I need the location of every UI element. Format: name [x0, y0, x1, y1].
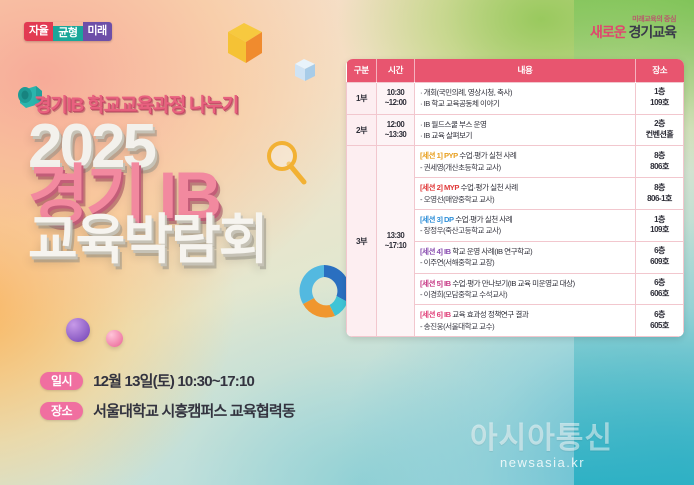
cell-content: [세션 5] IB 수업·평가 만나보기(IB 교육 미운영교 대상) - 이경… [415, 273, 636, 305]
session-tag: [세션 3] DP [420, 215, 454, 224]
schedule-table: 구분 시간 내용 장소 1부 10:30 ~12:00 · 개회(국민의례, 영… [346, 59, 684, 337]
title-expo: 교육박람회 [28, 216, 328, 266]
session-presenter: - 장정우(죽산고등학교 교사) [420, 225, 630, 236]
info-row-venue: 장소 서울대학교 시흥캠퍼스 교육협력동 [40, 400, 295, 421]
cell-room: 1층 109호 [636, 210, 684, 242]
session-presenter: - 이주연(서해중학교 교장) [420, 257, 630, 268]
room-floor: 6층 [641, 310, 678, 321]
table-row: 1부 10:30 ~12:00 · 개회(국민의례, 영상시청, 축사) · I… [347, 82, 684, 114]
table-row: 2부 12:00 ~13:30 · IB 월드스쿨 부스 운영 · IB 교육 … [347, 114, 684, 146]
room-floor: 8층 [641, 151, 678, 162]
session-tag: [세션 5] IB [420, 279, 451, 288]
content-line-1: · IB 월드스쿨 부스 운영 [420, 119, 630, 130]
session-title: 수업·평가 실천 사례 [459, 183, 518, 192]
cell-time: 13:30 ~17:10 [377, 146, 415, 337]
time-start: 10:30 [382, 88, 409, 99]
session-presenter: - 이경희(모담중학교 수석교사) [420, 289, 630, 300]
logo-tagline: 미래교육의 중심 [590, 16, 676, 24]
header-room: 장소 [636, 59, 684, 82]
session-tag: [세션 2] MYP [420, 183, 459, 192]
room-number: 109호 [641, 98, 678, 109]
info-tag-date: 일시 [40, 372, 83, 390]
content-line-2: · IB 교육 살펴보기 [420, 130, 630, 141]
cell-room: 8층 806호 [636, 146, 684, 178]
session-heading: [세션 3] DP 수업·평가 실천 사례 [420, 214, 630, 225]
header-content: 내용 [415, 59, 636, 82]
room-floor: 1층 [641, 215, 678, 226]
cell-content: · 개회(국민의례, 영상시청, 축사) · IB 학교 교육공동체 이야기 [415, 82, 636, 114]
cell-room: 6층 605호 [636, 305, 684, 337]
cell-room: 8층 806-1호 [636, 178, 684, 210]
cell-part: 3부 [347, 146, 377, 337]
time-start: 13:30 [382, 231, 409, 242]
room-floor: 6층 [641, 246, 678, 257]
session-tag: [세션 4] IB [420, 247, 451, 256]
badge-segment-autonomy: 자율 [24, 22, 53, 41]
session-tag: [세션 1] PYP [420, 151, 458, 160]
header-part: 구분 [347, 59, 377, 82]
session-presenter: - 송진웅(서울대학교 교수) [420, 321, 630, 332]
room-number: 806-1호 [641, 194, 678, 205]
logo-main-highlight: 새로운 [590, 24, 626, 40]
content-line-1: · 개회(국민의례, 영상시청, 축사) [420, 87, 630, 98]
cell-part: 1부 [347, 82, 377, 114]
room-number: 806호 [641, 162, 678, 173]
ring-icon [295, 262, 353, 320]
info-value-venue: 서울대학교 시흥캠퍼스 교육협력동 [93, 400, 295, 421]
session-heading: [세션 1] PYP 수업·평가 실천 사례 [420, 150, 630, 161]
room-floor: 6층 [641, 278, 678, 289]
session-title: 수업·평가 실천 사례 [454, 215, 513, 224]
badge-segment-future: 미래 [83, 22, 112, 41]
cell-room: 6층 609호 [636, 241, 684, 273]
magnifier-icon [264, 140, 308, 186]
room-number: 609호 [641, 257, 678, 268]
time-end: ~12:00 [382, 98, 409, 109]
gyeonggi-education-logo: 미래교육의 중심 새로운 경기교육 [590, 16, 676, 40]
cube-icon [226, 22, 266, 64]
time-end: ~17:10 [382, 241, 409, 252]
content-line-2: · IB 학교 교육공동체 이야기 [420, 98, 630, 109]
cell-time: 12:00 ~13:30 [377, 114, 415, 146]
session-heading: [세션 4] IB 학교 운영 사례(IB 연구학교) [420, 246, 630, 257]
table-header-row: 구분 시간 내용 장소 [347, 59, 684, 82]
cell-room: 6층 606호 [636, 273, 684, 305]
room-number: 606호 [641, 289, 678, 300]
time-start: 12:00 [382, 120, 409, 131]
time-end: ~13:30 [382, 130, 409, 141]
logo-main-rest: 경기교육 [626, 24, 676, 40]
table-row: 3부 13:30 ~17:10 [세션 1] PYP 수업·평가 실천 사례 -… [347, 146, 684, 178]
cell-content: [세션 2] MYP 수업·평가 실천 사례 - 오영선(매양중학교 교사) [415, 178, 636, 210]
room-floor: 8층 [641, 183, 678, 194]
cell-part: 2부 [347, 114, 377, 146]
sphere-decoration [106, 330, 123, 347]
session-title: 학교 운영 사례(IB 연구학교) [451, 247, 533, 256]
cube-icon [294, 58, 316, 82]
cell-time: 10:30 ~12:00 [377, 82, 415, 114]
schedule-header: 구분 시간 내용 장소 [347, 59, 684, 82]
badge-segment-balance: 균형 [53, 26, 82, 41]
room-floor: 2층 [641, 119, 678, 130]
session-presenter: - 권세영(개산초등학교 교사) [420, 162, 630, 173]
slogan-badge: 자율 균형 미래 [24, 22, 112, 41]
room-number: 컨벤션홀 [641, 130, 678, 141]
session-title: 수업·평가 만나보기(IB 교육 미운영교 대상) [451, 279, 575, 288]
session-title: 수업·평가 실천 사례 [458, 151, 517, 160]
cell-room: 1층 109호 [636, 82, 684, 114]
room-number: 605호 [641, 321, 678, 332]
cell-content: [세션 4] IB 학교 운영 사례(IB 연구학교) - 이주연(서해중학교 … [415, 241, 636, 273]
event-info: 일시 12월 13일(토) 10:30~17:10 장소 서울대학교 시흥캠퍼스… [40, 370, 295, 430]
session-tag: [세션 6] IB [420, 310, 451, 319]
room-floor: 1층 [641, 87, 678, 98]
schedule-body: 1부 10:30 ~12:00 · 개회(국민의례, 영상시청, 축사) · I… [347, 82, 684, 336]
cell-room: 2층 컨벤션홀 [636, 114, 684, 146]
session-title: 교육 효과성 정책연구 결과 [451, 310, 529, 319]
info-row-date: 일시 12월 13일(토) 10:30~17:10 [40, 370, 295, 391]
session-heading: [세션 5] IB 수업·평가 만나보기(IB 교육 미운영교 대상) [420, 278, 630, 289]
session-presenter: - 오영선(매양중학교 교사) [420, 194, 630, 205]
info-value-date: 12월 13일(토) 10:30~17:10 [93, 370, 254, 391]
cell-content: [세션 3] DP 수업·평가 실천 사례 - 장정우(죽산고등학교 교사) [415, 210, 636, 242]
cell-content: [세션 1] PYP 수업·평가 실천 사례 - 권세영(개산초등학교 교사) [415, 146, 636, 178]
header-time: 시간 [377, 59, 415, 82]
cell-content: [세션 6] IB 교육 효과성 정책연구 결과 - 송진웅(서울대학교 교수) [415, 305, 636, 337]
room-number: 109호 [641, 225, 678, 236]
cell-content: · IB 월드스쿨 부스 운영 · IB 교육 살펴보기 [415, 114, 636, 146]
sphere-decoration [66, 318, 90, 342]
session-heading: [세션 6] IB 교육 효과성 정책연구 결과 [420, 309, 630, 320]
session-heading: [세션 2] MYP 수업·평가 실천 사례 [420, 182, 630, 193]
info-tag-venue: 장소 [40, 402, 83, 420]
logo-main: 새로운 경기교육 [590, 24, 676, 40]
